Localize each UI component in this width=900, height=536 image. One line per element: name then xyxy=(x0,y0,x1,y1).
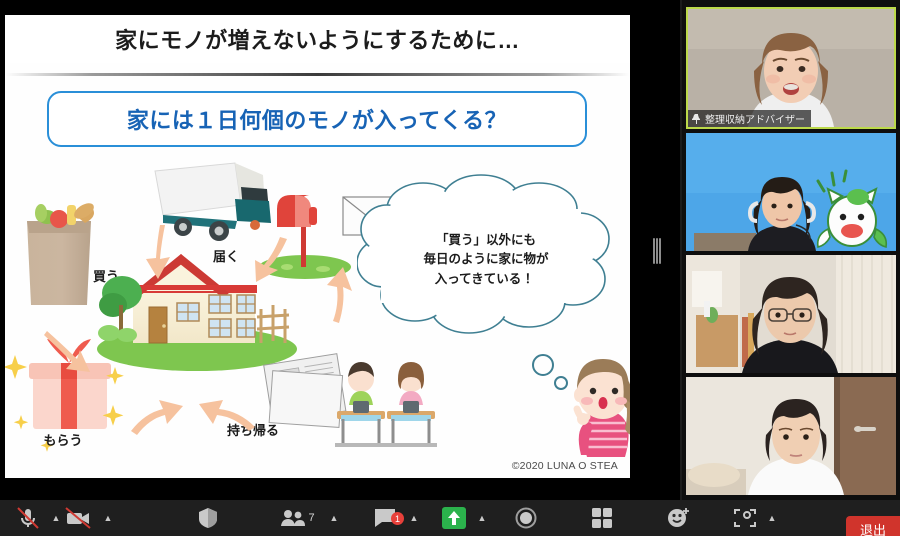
panel-drag-handle[interactable] xyxy=(653,238,660,264)
bubble-line-3: 入ってきている ！ xyxy=(357,270,615,289)
participant-name-bar: 整理収納アドバイザー xyxy=(688,110,811,127)
diagram-label-deliver: 届く xyxy=(213,249,239,264)
delivery-truck-icon xyxy=(155,163,271,241)
participant-video-2 xyxy=(686,133,896,251)
security-button[interactable] xyxy=(190,500,226,536)
thought-bubble-text: 「買う」以外にも 毎日のように家に物が 入ってきている ！ xyxy=(357,231,615,289)
slide-title: 家にモノが増えないようにするために… xyxy=(5,23,630,55)
presentation-slide: 家にモノが増えないようにするために… 家には１日何個のモノが入ってくる？ xyxy=(5,15,630,478)
shield-icon xyxy=(198,507,218,529)
share-screen-up-arrow-icon xyxy=(441,506,467,530)
corner-brackets-icon xyxy=(733,507,757,529)
chat-button[interactable]: 1 xyxy=(366,500,406,536)
camera-stopped-icon xyxy=(63,505,93,531)
leave-meeting-button[interactable]: 退出 xyxy=(846,516,900,536)
participants-button[interactable]: 7 xyxy=(272,500,324,536)
school-desk-kids-icon xyxy=(335,362,437,447)
slide-question-box: 家には１日何個のモノが入ってくる？ xyxy=(47,91,587,147)
chat-unread-badge: 1 xyxy=(391,512,404,525)
newspaper-icon xyxy=(264,354,346,428)
mute-audio-button[interactable] xyxy=(8,500,48,536)
video-options-caret[interactable]: ▲ xyxy=(100,500,116,536)
stop-video-button[interactable] xyxy=(56,500,100,536)
bubble-line-1: 「買う」以外にも xyxy=(357,231,615,250)
shared-screen-region[interactable]: 家にモノが増えないようにするために… 家には１日何個のモノが入ってくる？ xyxy=(0,0,680,500)
reactions-button[interactable] xyxy=(660,500,698,536)
meeting-toolbar[interactable]: ▲ ▲ 7 ▲ xyxy=(0,500,900,536)
microphone-muted-icon xyxy=(15,505,41,531)
mailbox-icon xyxy=(259,195,351,279)
remote-control-button[interactable] xyxy=(726,500,764,536)
bubble-line-2: 毎日のように家に物が xyxy=(357,250,615,269)
slide-title-bar: 家にモノが増えないようにするために… xyxy=(5,15,630,63)
slide-title-divider xyxy=(5,73,630,76)
participants-icon xyxy=(281,509,305,527)
diagram-label-receive: もらう xyxy=(43,433,82,448)
breakout-rooms-button[interactable] xyxy=(584,500,620,536)
video-tile-participant-3[interactable] xyxy=(686,255,896,373)
slide-question-text: 家には１日何個のモノが入ってくる？ xyxy=(127,103,507,135)
video-tile-participant-2[interactable] xyxy=(686,133,896,251)
chat-options-caret[interactable]: ▲ xyxy=(406,500,422,536)
pin-icon xyxy=(692,114,701,124)
thought-bubble: 「買う」以外にも 毎日のように家に物が 入ってきている ！ xyxy=(357,183,615,343)
share-options-caret[interactable]: ▲ xyxy=(474,500,490,536)
participants-count: 7 xyxy=(308,512,314,524)
participant-name-label: 整理収納アドバイザー xyxy=(705,111,805,126)
remote-control-caret[interactable]: ▲ xyxy=(764,500,780,536)
participants-options-caret[interactable]: ▲ xyxy=(326,500,342,536)
thinking-girl-icon xyxy=(525,347,630,477)
participant-video-4 xyxy=(686,377,896,495)
video-tile-speaker[interactable]: 整理収納アドバイザー xyxy=(686,7,896,129)
smiley-plus-icon xyxy=(667,507,691,529)
video-tile-participant-4[interactable] xyxy=(686,377,896,495)
grid-squares-icon xyxy=(591,507,613,529)
record-button[interactable] xyxy=(508,500,544,536)
share-screen-button[interactable] xyxy=(436,500,472,536)
grocery-bag-icon xyxy=(27,200,97,305)
slide-copyright: ©2020 LUNA O STEA xyxy=(512,460,618,472)
video-thumbnail-strip[interactable]: 整理収納アドバイザー xyxy=(682,0,900,500)
record-circle-icon xyxy=(515,507,537,529)
participant-video-3 xyxy=(686,255,896,373)
zoom-meeting-window: 家にモノが増えないようにするために… 家には１日何個のモノが入ってくる？ xyxy=(0,0,900,536)
